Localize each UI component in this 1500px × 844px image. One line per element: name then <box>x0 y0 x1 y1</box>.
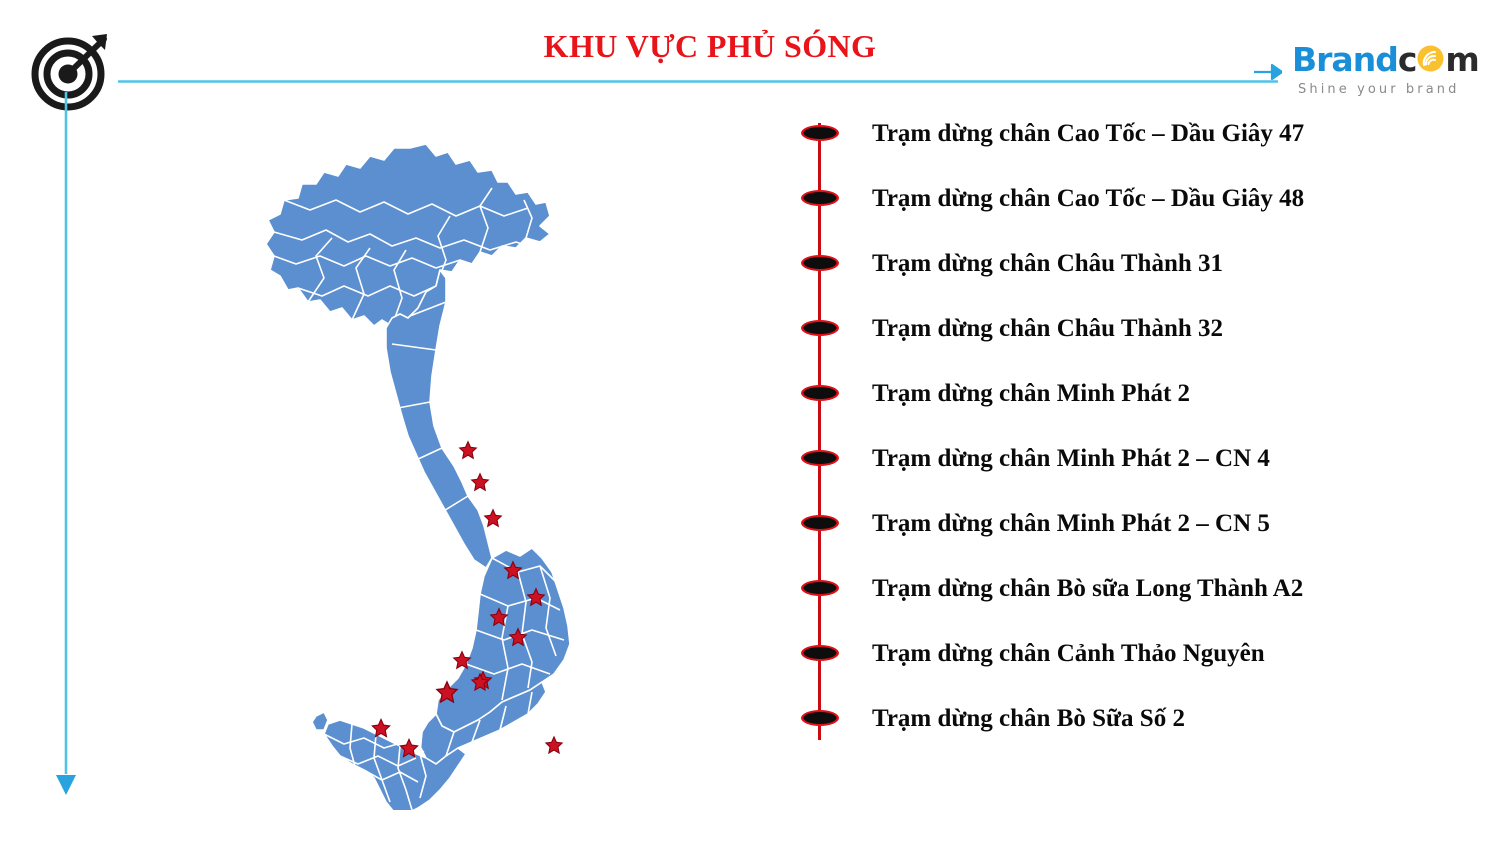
timeline-item-label: Trạm dừng chân Minh Phát 2 <box>872 381 1190 406</box>
ellipse-bullet-icon <box>800 644 840 662</box>
ellipse-bullet-icon <box>800 189 840 207</box>
map-landmass <box>266 144 570 810</box>
timeline-item-label: Trạm dừng chân Châu Thành 31 <box>872 251 1223 276</box>
timeline-item-label: Trạm dừng chân Cao Tốc – Dầu Giây 48 <box>872 186 1304 211</box>
ellipse-bullet-icon <box>800 319 840 337</box>
timeline-item-label: Trạm dừng chân Cảnh Thảo Nguyên <box>872 641 1265 666</box>
timeline-item[interactable]: Trạm dừng chân Cao Tốc – Dầu Giây 48 <box>790 178 1450 218</box>
brand-name-primary: Brand <box>1292 40 1398 79</box>
timeline-item-label: Trạm dừng chân Minh Phát 2 – CN 5 <box>872 511 1270 536</box>
station-timeline: Trạm dừng chân Cao Tốc – Dầu Giây 47Trạm… <box>790 105 1450 755</box>
left-vertical-arrow <box>48 92 84 800</box>
brand-tagline: Shine your brand <box>1298 82 1460 97</box>
brandcom-logo: Brand c m Shine your brand <box>1292 40 1476 102</box>
ellipse-bullet-icon <box>800 579 840 597</box>
timeline-item-label: Trạm dừng chân Bò sữa Long Thành A2 <box>872 576 1303 601</box>
brand-name-m: m <box>1445 40 1478 79</box>
brand-wordmark: Brand c m <box>1292 40 1479 78</box>
timeline-item-label: Trạm dừng chân Minh Phát 2 – CN 4 <box>872 446 1270 471</box>
slide-header: KHU VỰC PHỦ SÓNG <box>0 0 1500 115</box>
ellipse-bullet-icon <box>800 514 840 532</box>
timeline-item[interactable]: Trạm dừng chân Bò sữa Long Thành A2 <box>790 568 1450 608</box>
timeline-item[interactable]: Trạm dừng chân Bò Sữa Số 2 <box>790 698 1450 738</box>
star-marker-icon <box>460 442 477 459</box>
vietnam-coverage-map <box>240 130 640 810</box>
star-marker-icon <box>485 510 502 527</box>
header-divider-line <box>118 70 1278 73</box>
timeline-item[interactable]: Trạm dừng chân Minh Phát 2 – CN 5 <box>790 503 1450 543</box>
timeline-item[interactable]: Trạm dừng chân Cảnh Thảo Nguyên <box>790 633 1450 673</box>
timeline-item[interactable]: Trạm dừng chân Châu Thành 31 <box>790 243 1450 283</box>
ellipse-bullet-icon <box>800 254 840 272</box>
timeline-item[interactable]: Trạm dừng chân Minh Phát 2 <box>790 373 1450 413</box>
timeline-item[interactable]: Trạm dừng chân Minh Phát 2 – CN 4 <box>790 438 1450 478</box>
ellipse-bullet-icon <box>800 124 840 142</box>
timeline-item-label: Trạm dừng chân Bò Sữa Số 2 <box>872 706 1185 731</box>
ellipse-bullet-icon <box>800 449 840 467</box>
star-marker-icon <box>546 737 562 753</box>
timeline-item[interactable]: Trạm dừng chân Châu Thành 32 <box>790 308 1450 348</box>
brand-signal-o-icon <box>1417 41 1444 68</box>
timeline-item[interactable]: Trạm dừng chân Cao Tốc – Dầu Giây 47 <box>790 113 1450 153</box>
header-rule-arrow-icon <box>1252 60 1282 84</box>
star-marker-icon <box>472 474 489 491</box>
brand-name-c: c <box>1398 40 1417 79</box>
timeline-item-label: Trạm dừng chân Cao Tốc – Dầu Giây 47 <box>872 121 1304 146</box>
ellipse-bullet-icon <box>800 384 840 402</box>
page-title: KHU VỰC PHỦ SÓNG <box>380 28 1040 65</box>
timeline-item-label: Trạm dừng chân Châu Thành 32 <box>872 316 1223 341</box>
ellipse-bullet-icon <box>800 709 840 727</box>
